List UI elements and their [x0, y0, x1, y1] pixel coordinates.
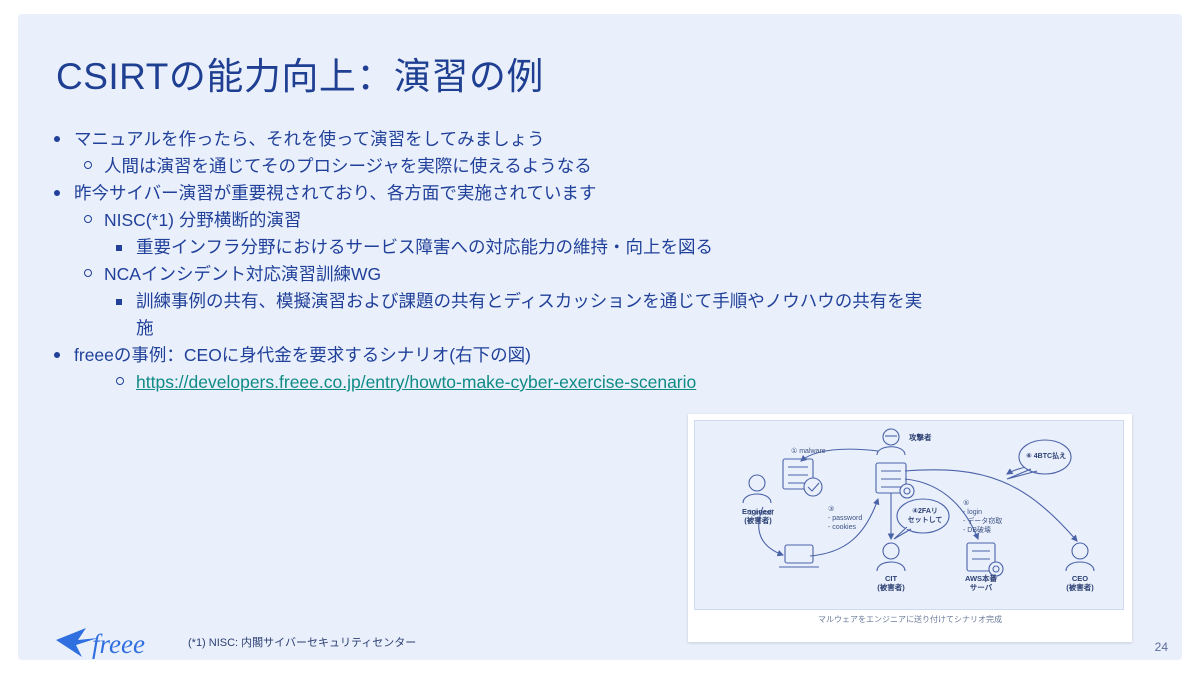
- bullet-marker-circle: [84, 153, 104, 180]
- cit-label: CIT (被害者): [856, 574, 926, 592]
- slide-canvas: CSIRTの能力向上：演習の例 マニュアルを作ったら、それを使って演習をしてみま…: [18, 14, 1182, 660]
- ceo-person-icon: [1066, 543, 1094, 571]
- list-item-text: 重要インフラ分野におけるサービス障害への対応能力の維持・向上を図る: [136, 234, 936, 261]
- bullet-marker-square: [116, 288, 136, 315]
- attacker-label: 攻撃者: [909, 433, 949, 442]
- diagram-panel: ① malware ② install ③ - password - cooki…: [694, 420, 1124, 610]
- list-item: NISC(*1) 分野横断的演習: [54, 207, 954, 234]
- bullet-marker-disc: [54, 126, 74, 153]
- page-title: CSIRTの能力向上：演習の例: [56, 46, 544, 100]
- engineer-label: Engineer (被害者): [723, 507, 793, 525]
- blog-article-link[interactable]: https://developers.freee.co.jp/entry/how…: [136, 369, 936, 396]
- list-item: freeeの事例：CEOに身代金を要求するシナリオ(右下の図): [54, 342, 954, 369]
- step-6-label: ⑥ 4BTC払え: [1023, 452, 1069, 461]
- freee-logo: freee: [52, 622, 172, 662]
- list-item: 人間は演習を通じてそのプロシージャを実際に使えるようなる: [54, 153, 954, 180]
- footnote-text: (*1) NISC: 内閣サイバーセキュリティセンター: [188, 634, 416, 650]
- list-item-text: NISC(*1) 分野横断的演習: [104, 207, 954, 234]
- step-5-label: ⑤ - login - データ窃取 - DB破壊: [963, 499, 1002, 535]
- step-1-label: ① malware: [791, 447, 826, 456]
- aws-server-label: AWS本番 サーバ: [946, 574, 1016, 592]
- list-item: https://developers.freee.co.jp/entry/how…: [54, 369, 954, 396]
- bullet-marker-square: [116, 234, 136, 261]
- list-item-text: 訓練事例の共有、模擬演習および課題の共有とディスカッションを通じて手順やノウハウ…: [136, 288, 936, 342]
- list-item-text: 人間は演習を通じてそのプロシージャを実際に使えるようなる: [104, 153, 954, 180]
- list-item: 訓練事例の共有、模擬演習および課題の共有とディスカッションを通じて手順やノウハウ…: [54, 288, 954, 342]
- svg-text:freee: freee: [92, 629, 145, 659]
- page-number: 24: [1155, 640, 1168, 654]
- list-item: 重要インフラ分野におけるサービス障害への対応能力の維持・向上を図る: [54, 234, 954, 261]
- list-item-text: マニュアルを作ったら、それを使って演習をしてみましょう: [74, 126, 954, 153]
- list-item: 昨今サイバー演習が重要視されており、各方面で実施されています: [54, 180, 954, 207]
- aws-server-icon: [967, 543, 1003, 576]
- bullet-marker-circle: [84, 261, 104, 288]
- laptop-icon: [779, 545, 819, 567]
- step-4-label: ④2FAリ セットして: [903, 507, 947, 525]
- list-item: NCAインシデント対応演習訓練WG: [54, 261, 954, 288]
- step-3-label: ③ - password - cookies: [828, 505, 862, 532]
- bullet-marker-disc: [54, 180, 74, 207]
- scenario-diagram-image[interactable]: ① malware ② install ③ - password - cooki…: [688, 414, 1132, 642]
- list-item-text: 昨今サイバー演習が重要視されており、各方面で実施されています: [74, 180, 954, 207]
- engineer-icon: [743, 475, 771, 503]
- attacker-icon: [877, 429, 905, 455]
- freee-wordmark: freee: [92, 629, 145, 659]
- list-item-text: freeeの事例：CEOに身代金を要求するシナリオ(右下の図): [74, 342, 954, 369]
- cit-person-icon: [877, 543, 905, 571]
- bullet-marker-circle: [84, 207, 104, 234]
- ceo-label: CEO (被害者): [1045, 574, 1115, 592]
- diagram-caption: マルウェアをエンジニアに送り付けてシナリオ完成: [688, 614, 1132, 625]
- list-item-text: NCAインシデント対応演習訓練WG: [104, 261, 954, 288]
- attacker-server-icon: [876, 463, 914, 498]
- bullet-marker-disc: [54, 342, 74, 369]
- server-check-icon: [783, 459, 822, 496]
- bullet-list: マニュアルを作ったら、それを使って演習をしてみましょう 人間は演習を通じてそのプ…: [54, 126, 954, 396]
- list-item: マニュアルを作ったら、それを使って演習をしてみましょう: [54, 126, 954, 153]
- bullet-marker-circle: [116, 369, 136, 396]
